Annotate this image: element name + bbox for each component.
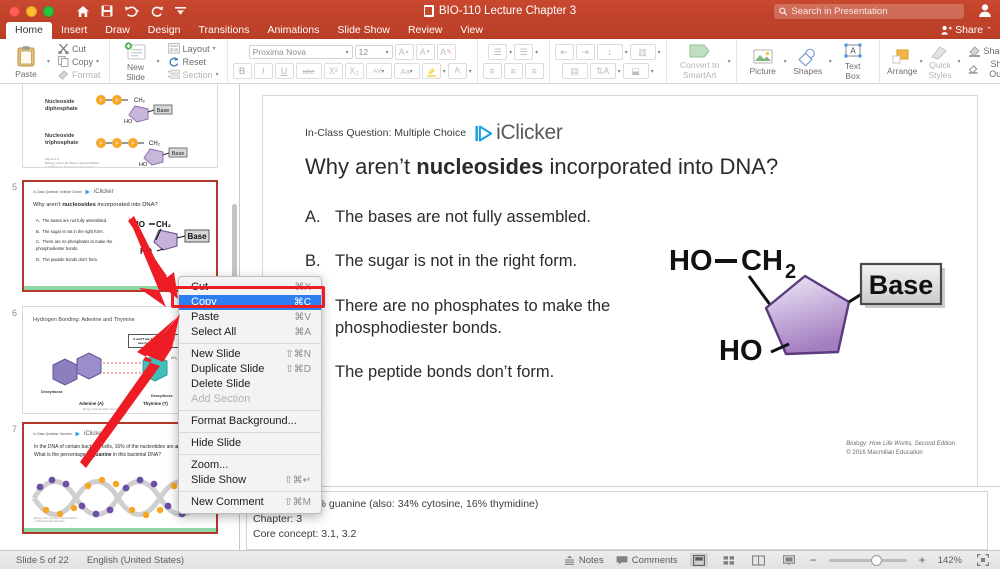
thumbnail-number-6: 6 xyxy=(0,306,22,414)
shapes-icon xyxy=(797,48,819,66)
zoom-out-button[interactable]: − xyxy=(810,553,817,567)
character-spacing-button[interactable]: AV▾ xyxy=(366,63,392,79)
font-color-button[interactable]: A xyxy=(448,63,467,79)
status-bar[interactable]: Slide 5 of 22 English (United States) No… xyxy=(0,550,1000,569)
menu-item-copy-label: Copy xyxy=(191,295,217,310)
italic-button[interactable]: I xyxy=(254,63,273,79)
notes-pane[interactable]: ANSWER: 34% guanine (also: 34% cytosine,… xyxy=(240,486,1000,550)
copy-dropdown-caret[interactable]: ▾ xyxy=(96,58,99,65)
font-name-select[interactable]: Proxima Nova ▾ xyxy=(249,45,353,59)
choice-c-text: There are no phosphates to make the phos… xyxy=(335,295,675,340)
zoom-slider-knob[interactable] xyxy=(871,555,882,566)
menu-item-duplicate-slide[interactable]: Duplicate Slide ⇧⌘D xyxy=(179,362,321,377)
tab-animations[interactable]: Animations xyxy=(258,22,328,39)
thumb5-molecule-diagram: HO CH₂ HO Base xyxy=(132,216,212,264)
zoom-in-button[interactable]: + xyxy=(919,553,926,567)
shapes-label: Shapes xyxy=(793,66,822,76)
shape-fill-icon xyxy=(968,45,981,57)
clear-formatting-button[interactable]: A✎ xyxy=(437,44,456,60)
reading-view-button[interactable] xyxy=(750,553,768,567)
menu-item-copy[interactable]: Copy ⌘C xyxy=(179,295,321,310)
text-box-label-line1: Text xyxy=(845,61,861,71)
align-left-button[interactable]: ≡ xyxy=(483,63,502,79)
menu-item-select-all-shortcut: ⌘A xyxy=(294,325,311,340)
menu-item-new-slide-shortcut: ⇧⌘N xyxy=(285,347,311,362)
fit-to-window-icon xyxy=(977,554,989,566)
ribbon-group-drawing: Arrange ▾ Quick Styles ▾ Shape Fill ▾ Sh… xyxy=(880,39,1000,84)
close-window-icon[interactable] xyxy=(9,6,20,17)
columns-caret[interactable]: ▾ xyxy=(658,49,661,56)
picture-label: Picture xyxy=(749,66,775,76)
format-painter-icon xyxy=(58,69,69,80)
slide-context-menu[interactable]: Cut ⌘X Copy ⌘C Paste ⌘V Select All ⌘A Ne… xyxy=(178,276,322,514)
choice-d[interactable]: D. The peptide bonds don’t form. xyxy=(305,361,705,383)
ribbon-tab-bar[interactable]: Home Insert Draw Design Transitions Anim… xyxy=(0,22,1000,39)
bullets-caret[interactable]: ▾ xyxy=(509,49,512,56)
nucleoside-molecule-diagram: HO CH 2 HO Base xyxy=(653,236,963,416)
ribbon-group-clipboard: Paste ▾ Cut Copy ▾ Format xyxy=(0,39,110,84)
search-icon xyxy=(779,7,787,16)
current-slide[interactable]: In-Class Question: Multiple Choice iClic… xyxy=(262,95,978,501)
comments-toggle-button[interactable]: Comments xyxy=(616,555,678,566)
account-icon[interactable] xyxy=(978,3,992,23)
copy-icon xyxy=(58,56,69,67)
text-direction-button[interactable]: ⇅A xyxy=(590,63,616,79)
thumb5-iclicker-row: In-Class Question: Multiple Choice iClic… xyxy=(33,189,114,195)
section-label: Section xyxy=(183,70,213,80)
cut-label: Cut xyxy=(72,44,86,54)
thumb7-caption: Biology: How Life Works, Second Edition©… xyxy=(34,517,77,524)
smartart-icon xyxy=(688,43,712,60)
font-size-caret[interactable]: ▾ xyxy=(386,49,389,56)
ribbon-group-font: Proxima Nova ▾ 12 ▾ A▲ A▼ A✎ B I U abc xyxy=(228,39,478,84)
quick-styles-caret[interactable]: ▾ xyxy=(958,58,961,65)
menu-item-select-all-label: Select All xyxy=(191,325,236,340)
arrange-label: Arrange xyxy=(887,66,917,76)
svg-text:Deoxyribose: Deoxyribose xyxy=(41,390,63,394)
menu-separator-4 xyxy=(179,454,321,455)
choice-c[interactable]: C. There are no phosphates to make the p… xyxy=(305,295,675,340)
ribbon-group-smartart: Convert to SmartArt ▾ xyxy=(667,39,737,84)
menu-item-zoom-label: Zoom... xyxy=(191,458,228,473)
paste-dropdown-caret[interactable]: ▾ xyxy=(47,58,50,65)
choice-b-letter: B. xyxy=(305,250,335,272)
shape-fill-button[interactable]: Shape Fill ▾ xyxy=(965,44,1000,58)
tab-review[interactable]: Review xyxy=(399,22,451,39)
svg-text:Deoxyribose: Deoxyribose xyxy=(151,394,173,398)
thumbnail-number-4 xyxy=(0,84,22,168)
tab-transitions[interactable]: Transitions xyxy=(189,22,258,39)
zoom-slider[interactable] xyxy=(829,559,907,562)
slide-title-bold: nucleosides xyxy=(416,154,543,179)
justify-button[interactable]: ▤ xyxy=(562,63,588,79)
text-box-button[interactable]: A Text Box xyxy=(832,43,874,81)
paste-label: Paste xyxy=(15,69,37,79)
menu-item-new-comment[interactable]: New Comment ⇧⌘M xyxy=(179,495,321,510)
svg-text:Thymine (T): Thymine (T) xyxy=(143,401,168,406)
section-icon xyxy=(168,69,180,80)
new-slide-dropdown-caret[interactable]: ▾ xyxy=(157,58,160,65)
choice-b-text: The sugar is not in the right form. xyxy=(335,250,577,272)
strikethrough-button[interactable]: abc xyxy=(296,63,322,79)
thumbnail-content-4: Nucleosidediphosphate Nucleosidetriphosp… xyxy=(23,84,217,167)
layout-icon xyxy=(168,43,180,54)
menu-item-cut-shortcut: ⌘X xyxy=(294,280,311,295)
menu-item-add-section-label: Add Section xyxy=(191,392,250,407)
menu-item-slide-show[interactable]: Slide Show ⇧⌘↵ xyxy=(179,473,321,488)
decrease-indent-button[interactable]: ⇤ xyxy=(555,44,574,60)
convert-to-smartart-button[interactable]: Convert to SmartArt xyxy=(672,43,728,80)
comments-toggle-label: Comments xyxy=(632,555,678,566)
customize-toolbar-icon[interactable] xyxy=(175,6,186,16)
slide-eyebrow-text: In-Class Question: Multiple Choice xyxy=(305,127,466,139)
language-indicator[interactable]: English (United States) xyxy=(87,555,184,566)
shape-outline-label: Shape Outline xyxy=(981,59,1000,79)
reset-button[interactable]: Reset xyxy=(165,55,210,68)
ribbon[interactable]: Paste ▾ Cut Copy ▾ Format xyxy=(0,39,1000,84)
slide-editing-stage[interactable]: In-Class Question: Multiple Choice iClic… xyxy=(240,84,1000,550)
menu-item-cut-label: Cut xyxy=(191,280,208,295)
undo-icon[interactable] xyxy=(124,5,140,17)
arrange-button[interactable]: Arrange xyxy=(885,48,920,76)
cut-button[interactable]: Cut xyxy=(55,42,89,55)
slide-title-post: incorporated into DNA? xyxy=(543,154,778,179)
highlight-caret[interactable]: ▾ xyxy=(443,68,446,75)
new-slide-label-line2: Slide xyxy=(126,72,145,82)
svg-text:Adenine (A): Adenine (A) xyxy=(79,401,104,406)
smartart-caret[interactable]: ▾ xyxy=(728,58,731,65)
indent-row-bottom: ▤ ⇅A ▾ ⬓ ▾ xyxy=(562,63,654,79)
align-right-button[interactable]: ≡ xyxy=(525,63,544,79)
reset-icon xyxy=(168,56,180,67)
thumb4-label-1: Nucleosidediphosphate xyxy=(45,99,78,113)
svg-text:Base: Base xyxy=(187,232,207,241)
tab-view[interactable]: View xyxy=(451,22,492,39)
bulleted-list-button[interactable]: ☰ xyxy=(488,44,507,60)
quick-styles-button[interactable]: Quick Styles xyxy=(923,44,958,80)
thumb4-caption: Figure 3.4Biology: How Life Works, Secon… xyxy=(45,157,99,167)
ribbon-group-indent: ⇤ ⇥ ↕ ▾ ▥ ▾ ▤ ⇅A ▾ ⬓ ▾ xyxy=(550,39,667,84)
highlight-icon xyxy=(426,66,437,77)
align-center-button[interactable]: ≡ xyxy=(504,63,523,79)
font-color-caret[interactable]: ▾ xyxy=(469,68,472,75)
svg-text:HO: HO xyxy=(669,245,713,277)
menu-item-paste-label: Paste xyxy=(191,310,219,325)
layout-button[interactable]: Layout ▾ xyxy=(165,42,219,55)
notes-toggle-label: Notes xyxy=(579,555,604,566)
line-spacing-caret[interactable]: ▾ xyxy=(625,49,628,56)
iclicker-play-icon xyxy=(474,124,493,143)
slide-sorter-icon xyxy=(723,555,735,566)
search-box[interactable] xyxy=(774,4,964,19)
menu-item-new-comment-shortcut: ⇧⌘M xyxy=(284,495,311,510)
font-size-value: 12 xyxy=(359,47,368,57)
presenter-view-button[interactable] xyxy=(780,553,798,567)
slide-title-pre: Why aren’t xyxy=(305,154,416,179)
tab-home[interactable]: Home xyxy=(6,22,52,39)
attribution-line-1: Biology: How Life Works, Second Edition xyxy=(846,440,955,449)
menu-separator-2 xyxy=(179,410,321,411)
thumbnail-number-5: 5 xyxy=(0,180,22,292)
quick-styles-label-line2: Styles xyxy=(929,70,952,80)
font-row-top: Proxima Nova ▾ 12 ▾ A▲ A▼ A✎ xyxy=(249,44,456,60)
menu-item-new-slide[interactable]: New Slide ⇧⌘N xyxy=(179,347,321,362)
svg-text:Base: Base xyxy=(869,270,934,300)
underline-button[interactable]: U xyxy=(275,63,294,79)
menu-item-delete-slide[interactable]: Delete Slide xyxy=(179,377,321,392)
notes-toggle-button[interactable]: Notes xyxy=(564,555,604,566)
notes-line-1: ANSWER: 34% guanine (also: 34% cytosine,… xyxy=(253,497,981,512)
fit-slide-button[interactable] xyxy=(974,553,992,567)
slide-sorter-view-button[interactable] xyxy=(720,553,738,567)
font-name-caret[interactable]: ▾ xyxy=(346,49,349,56)
subscript-button[interactable]: X₂ xyxy=(345,63,364,79)
picture-icon xyxy=(752,48,774,66)
powerpoint-window: BIO-110 Lecture Chapter 3 Home Insert Dr… xyxy=(0,0,1000,569)
layout-label: Layout xyxy=(183,44,210,54)
svg-text:Base: Base xyxy=(157,108,170,114)
presenter-view-icon xyxy=(783,555,795,566)
home-icon[interactable] xyxy=(76,5,90,18)
thumb5-iclicker-icon xyxy=(85,189,91,195)
menu-separator-3 xyxy=(179,432,321,433)
thumb5-choices: A. The bases are not fully assembled. B.… xyxy=(36,218,132,264)
thumbnail-row-4[interactable]: Nucleosidediphosphate Nucleosidetriphosp… xyxy=(0,84,240,168)
increase-indent-button[interactable]: ⇥ xyxy=(576,44,595,60)
smartart-label-line1: Convert to xyxy=(680,60,719,70)
save-icon[interactable] xyxy=(101,5,113,17)
superscript-button[interactable]: X² xyxy=(324,63,343,79)
search-input[interactable] xyxy=(791,6,959,17)
thumb6-caption: Biology: How Life Works, Second Edition xyxy=(83,408,126,411)
text-box-label-line2: Box xyxy=(845,71,860,81)
normal-view-button[interactable] xyxy=(690,553,708,567)
iclicker-wordmark: iClicker xyxy=(496,121,562,145)
menu-item-paste-shortcut: ⌘V xyxy=(294,310,311,325)
minimize-window-icon[interactable] xyxy=(26,6,37,17)
align-text-caret[interactable]: ▾ xyxy=(651,68,654,75)
arrange-icon xyxy=(891,48,913,66)
window-controls[interactable] xyxy=(9,6,54,17)
tab-draw[interactable]: Draw xyxy=(96,22,139,39)
thumbnail-slide-4[interactable]: Nucleosidediphosphate Nucleosidetriphosp… xyxy=(22,84,218,168)
text-box-icon: A xyxy=(843,43,863,61)
font-size-select[interactable]: 12 ▾ xyxy=(355,45,393,59)
shape-fill-label: Shape Fill xyxy=(984,46,1000,56)
format-label: Format xyxy=(72,70,101,80)
status-right[interactable]: Notes Comments − + 142% xyxy=(564,553,992,567)
document-title: BIO-110 Lecture Chapter 3 xyxy=(439,5,576,17)
paragraph-row-bottom: ≡ ≡ ≡ xyxy=(483,63,544,79)
copy-button[interactable]: Copy ▾ xyxy=(55,55,102,68)
paste-icon xyxy=(15,45,37,69)
reset-label: Reset xyxy=(183,57,207,67)
thumbnail-content-5: In-Class Question: Multiple Choice iClic… xyxy=(24,182,216,290)
svg-text:CH: CH xyxy=(741,245,783,277)
slide-eyebrow-row: In-Class Question: Multiple Choice iClic… xyxy=(305,121,563,145)
notes-icon xyxy=(564,555,575,566)
svg-text:HO: HO xyxy=(139,162,148,167)
svg-text:HO: HO xyxy=(719,335,763,367)
indent-row-top: ⇤ ⇥ ↕ ▾ ▥ ▾ xyxy=(555,44,661,60)
ribbon-group-paragraph: ☰ ▾ ☰ ▾ ≡ ≡ ≡ xyxy=(478,39,550,84)
picture-button[interactable]: Picture xyxy=(742,48,784,76)
svg-text:Base: Base xyxy=(172,151,185,157)
font-name-value: Proxima Nova xyxy=(253,47,306,57)
menu-item-hide-slide-label: Hide Slide xyxy=(191,436,241,451)
share-label: Share xyxy=(955,24,983,36)
quick-styles-label-line1: Quick xyxy=(929,60,951,70)
thumbnail-number-7: 7 xyxy=(0,422,22,534)
menu-item-duplicate-slide-label: Duplicate Slide xyxy=(191,362,264,377)
menu-item-slide-show-shortcut: ⇧⌘↵ xyxy=(284,473,311,488)
columns-button[interactable]: ▥ xyxy=(630,44,656,60)
menu-item-format-background-label: Format Background... xyxy=(191,414,297,429)
menu-item-add-section: Add Section xyxy=(179,392,321,407)
bold-button[interactable]: B xyxy=(233,63,252,79)
choice-d-text: The peptide bonds don’t form. xyxy=(335,361,554,383)
svg-text:CH₂: CH₂ xyxy=(134,98,146,104)
svg-text:CH₂: CH₂ xyxy=(156,220,172,229)
title-bar: BIO-110 Lecture Chapter 3 xyxy=(0,0,1000,22)
document-icon xyxy=(424,5,434,17)
shapes-button[interactable]: Shapes xyxy=(787,48,829,76)
menu-item-hide-slide[interactable]: Hide Slide xyxy=(179,436,321,451)
shape-outline-icon xyxy=(968,63,978,75)
svg-text:CH₂: CH₂ xyxy=(149,141,161,147)
notes-text-area[interactable]: ANSWER: 34% guanine (also: 34% cytosine,… xyxy=(246,491,988,550)
numbered-list-button[interactable]: ☰ xyxy=(514,44,533,60)
tab-slide-show[interactable]: Slide Show xyxy=(328,22,399,39)
grow-font-button[interactable]: A▲ xyxy=(395,44,414,60)
format-painter-button[interactable]: Format xyxy=(55,68,104,81)
menu-item-delete-slide-label: Delete Slide xyxy=(191,377,250,392)
menu-item-new-slide-label: New Slide xyxy=(191,347,241,362)
new-slide-button[interactable]: New Slide xyxy=(115,42,157,82)
menu-item-slide-show-label: Slide Show xyxy=(191,473,246,488)
quick-access-toolbar[interactable] xyxy=(76,5,186,18)
section-button[interactable]: Section ▾ xyxy=(165,68,222,81)
menu-item-cut[interactable]: Cut ⌘X xyxy=(179,280,321,295)
copy-label: Copy xyxy=(72,57,93,67)
normal-view-icon xyxy=(693,555,705,566)
ribbon-group-insert: Picture ▾ Shapes ▾ A Text Box xyxy=(737,39,880,84)
menu-item-duplicate-slide-shortcut: ⇧⌘D xyxy=(285,362,311,377)
svg-text:2: 2 xyxy=(785,261,796,283)
notes-line-3: Core concept: 3.1, 3.2 xyxy=(253,527,981,542)
svg-text:HO: HO xyxy=(133,220,145,229)
ribbon-group-slides: New Slide ▾ Layout ▾ Reset Section ▾ xyxy=(110,39,228,84)
menu-item-select-all[interactable]: Select All ⌘A xyxy=(179,325,321,340)
align-text-button[interactable]: ⬓ xyxy=(623,63,649,79)
smartart-label-line2: SmartArt xyxy=(683,70,717,80)
zoom-window-icon[interactable] xyxy=(43,6,54,17)
text-highlight-button[interactable] xyxy=(422,63,441,79)
reading-view-icon xyxy=(752,555,765,566)
menu-item-copy-shortcut: ⌘C xyxy=(294,295,311,310)
menu-item-format-background[interactable]: Format Background... xyxy=(179,414,321,429)
thumb7-iclicker-row: In-Class Question: Numeric iClicker xyxy=(33,431,104,437)
menu-item-new-comment-label: New Comment xyxy=(191,495,264,510)
notes-line-2: Chapter: 3 xyxy=(253,512,981,527)
share-button[interactable]: Share ⌃ xyxy=(941,24,992,36)
choice-a-text: The bases are not fully assembled. xyxy=(335,206,591,228)
change-case-button[interactable]: Aa▾ xyxy=(394,63,420,79)
quick-styles-icon xyxy=(929,44,951,60)
new-slide-label-line1: New xyxy=(127,62,144,72)
choice-b[interactable]: B. The sugar is not in the right form. xyxy=(305,250,705,272)
choice-a-letter: A. xyxy=(305,206,335,228)
menu-separator-1 xyxy=(179,343,321,344)
font-row-bottom: B I U abc X² X₂ AV▾ Aa▾ ▾ A ▾ xyxy=(233,63,472,79)
slide-title: Why aren’t nucleosides incorporated into… xyxy=(305,154,778,180)
tab-insert[interactable]: Insert xyxy=(52,22,96,39)
shrink-font-button[interactable]: A▼ xyxy=(416,44,435,60)
svg-text:HO: HO xyxy=(124,119,133,125)
layout-dropdown-caret[interactable]: ▾ xyxy=(213,45,216,52)
thumb7-iclicker-icon xyxy=(75,431,81,437)
line-spacing-button[interactable]: ↕ xyxy=(597,44,623,60)
slide-counter: Slide 5 of 22 xyxy=(16,555,69,566)
scissors-icon xyxy=(58,43,69,54)
redo-icon[interactable] xyxy=(151,5,164,17)
thumb4-molecule-diagram: P P CH₂ HO Base P P P xyxy=(93,91,213,167)
numbering-caret[interactable]: ▾ xyxy=(535,49,538,56)
section-dropdown-caret[interactable]: ▾ xyxy=(216,71,219,78)
share-person-icon xyxy=(941,25,952,35)
slide-choices-list[interactable]: A. The bases are not fully assembled. B.… xyxy=(305,206,675,405)
new-slide-icon xyxy=(124,42,148,62)
choice-a[interactable]: A. The bases are not fully assembled. xyxy=(305,206,675,228)
thumb5-title: Why aren’t nucleosides incorporated into… xyxy=(33,202,158,208)
tab-design[interactable]: Design xyxy=(139,22,190,39)
status-left: Slide 5 of 22 English (United States) xyxy=(16,555,184,566)
slide-attribution: Biology: How Life Works, Second Edition … xyxy=(846,440,955,458)
thumb6-title: Hydrogen Bonding: Adenine and Thymine xyxy=(33,317,135,323)
paste-button[interactable]: Paste xyxy=(5,45,47,79)
svg-text:HO: HO xyxy=(140,247,152,256)
menu-separator-5 xyxy=(179,491,321,492)
thumb7-green-bar xyxy=(24,528,216,532)
iclicker-logo: iClicker xyxy=(474,121,562,145)
svg-text:A: A xyxy=(850,46,856,55)
zoom-level-label: 142% xyxy=(938,555,962,566)
menu-item-zoom[interactable]: Zoom... xyxy=(179,458,321,473)
attribution-line-2: © 2016 Macmillan Education xyxy=(846,449,955,458)
svg-text:CH₃: CH₃ xyxy=(171,356,178,360)
thumb4-label-2: Nucleosidetriphosphate xyxy=(45,133,78,147)
comment-icon xyxy=(616,555,628,566)
shape-outline-button[interactable]: Shape Outline ▾ xyxy=(965,58,1000,80)
menu-item-paste[interactable]: Paste ⌘V xyxy=(179,310,321,325)
paragraph-row-top: ☰ ▾ ☰ ▾ xyxy=(488,44,538,60)
text-direction-caret[interactable]: ▾ xyxy=(618,68,621,75)
